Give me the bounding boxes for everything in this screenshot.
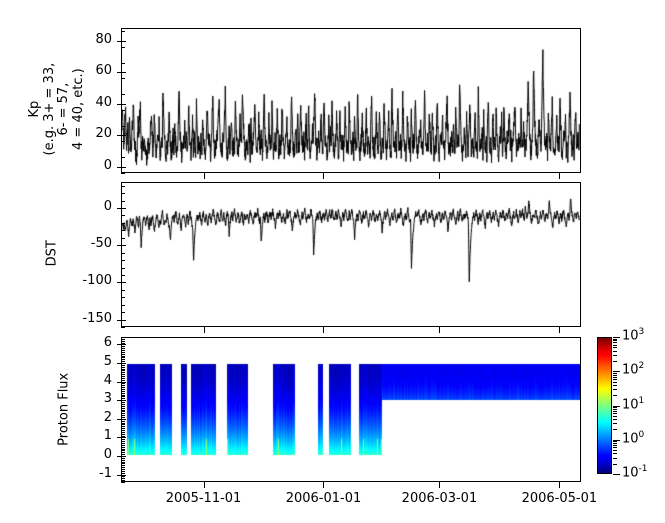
axis-tick-label: -100 (40, 273, 112, 288)
colorbar-minor-tick (613, 345, 617, 346)
axis-minor-tick (121, 275, 125, 276)
colorbar-tick-label: 10-1 (622, 464, 648, 480)
axis-minor-tick (121, 359, 125, 360)
axis-minor-tick (121, 463, 125, 464)
axis-minor-tick (121, 31, 125, 32)
colorbar-minor-tick (613, 409, 617, 410)
axis-major-tick (117, 41, 126, 42)
axis-minor-tick (121, 410, 125, 411)
x-axis-tick (439, 173, 440, 179)
axis-minor-tick (121, 424, 125, 425)
axis-minor-tick (121, 312, 125, 313)
axis-minor-tick (121, 370, 125, 371)
colorbar-gradient (598, 338, 611, 473)
axis-minor-tick (121, 201, 125, 202)
axis-minor-tick (121, 413, 125, 414)
colorbar-major-tick (613, 406, 620, 407)
axis-minor-tick (121, 367, 125, 368)
axis-minor-tick (121, 346, 125, 347)
axis-minor-tick (121, 356, 125, 357)
axis-minor-tick (121, 327, 125, 328)
colorbar-minor-tick (613, 407, 617, 408)
axis-tick-label: 0 (40, 199, 112, 214)
axis-major-tick (117, 437, 126, 438)
axis-minor-tick (121, 432, 125, 433)
axis-minor-tick (121, 352, 125, 353)
axis-minor-tick (121, 417, 125, 418)
axis-tick-label: 5 (40, 354, 112, 369)
axis-minor-tick (121, 415, 125, 416)
axis-minor-tick (121, 430, 125, 431)
colorbar-minor-tick (613, 464, 617, 465)
axis-minor-tick (121, 421, 125, 422)
axis-minor-tick (121, 441, 125, 442)
axis-minor-tick (121, 305, 125, 306)
axis-minor-tick (121, 372, 125, 373)
colorbar-tick-label: 100 (622, 430, 644, 446)
axis-minor-tick (121, 411, 125, 412)
colorbar-minor-tick (613, 361, 617, 362)
axis-minor-tick (121, 215, 125, 216)
axis-minor-tick (121, 365, 125, 366)
axis-minor-tick (121, 389, 125, 390)
axis-major-tick (117, 135, 126, 136)
axis-minor-tick (121, 462, 125, 463)
axis-minor-tick (121, 297, 125, 298)
axis-minor-tick (121, 238, 125, 239)
axis-major-tick (117, 167, 126, 168)
axis-minor-tick (121, 478, 125, 479)
axis-minor-tick (121, 339, 125, 340)
axis-minor-tick (121, 395, 125, 396)
colorbar-exponent: 2 (639, 361, 645, 371)
axis-major-tick (117, 363, 126, 364)
axis-minor-tick (121, 447, 125, 448)
panel-proton-flux (121, 337, 581, 482)
axis-minor-tick (121, 450, 125, 451)
axis-minor-tick (121, 458, 125, 459)
axis-minor-tick (121, 369, 125, 370)
colorbar-minor-tick (613, 423, 617, 424)
proton-flux-spectrogram (122, 338, 580, 481)
colorbar-minor-tick (613, 447, 617, 448)
axis-minor-tick (121, 408, 125, 409)
colorbar-minor-tick (613, 339, 617, 340)
axis-tick-label: -50 (40, 236, 112, 251)
axis-minor-tick (121, 426, 125, 427)
colorbar-major-tick (613, 371, 620, 372)
axis-minor-tick (121, 443, 125, 444)
x-axis-tick-label: 2005-11-01 (149, 491, 259, 506)
x-axis-tick (204, 173, 205, 179)
x-axis-tick (439, 482, 440, 488)
figure-root: Kp(e.g. 3+ = 33,6- = 57,4 = 40, etc.) 02… (0, 0, 665, 523)
axis-minor-tick (121, 223, 125, 224)
axis-minor-tick (121, 434, 125, 435)
colorbar-minor-tick (613, 385, 617, 386)
axis-major-tick (117, 456, 126, 457)
axis-minor-tick (121, 469, 125, 470)
colorbar-minor-tick (613, 382, 617, 383)
axis-minor-tick (121, 449, 125, 450)
colorbar-minor-tick (613, 340, 617, 341)
x-axis-tick (204, 482, 205, 488)
colorbar-mantissa: 10 (622, 397, 639, 412)
colorbar-minor-tick (613, 429, 617, 430)
colorbar-minor-tick (613, 453, 617, 454)
axis-minor-tick (121, 380, 125, 381)
axis-minor-tick (121, 428, 125, 429)
axis-minor-tick (121, 467, 125, 468)
colorbar-exponent: 0 (639, 430, 645, 440)
axis-minor-tick (121, 396, 125, 397)
colorbar-tick-label: 101 (622, 396, 644, 412)
axis-minor-tick (121, 402, 125, 403)
x-axis-tick (559, 327, 560, 333)
axis-minor-tick (121, 230, 125, 231)
kp-timeseries-plot (122, 29, 580, 172)
axis-major-tick (117, 72, 126, 73)
axis-tick-label: 3 (40, 391, 112, 406)
colorbar-minor-tick (613, 411, 617, 412)
axis-minor-tick (121, 423, 125, 424)
colorbar-minor-tick (613, 375, 617, 376)
axis-minor-tick (121, 404, 125, 405)
axis-major-tick (117, 320, 126, 321)
axis-minor-tick (121, 471, 125, 472)
axis-tick-label: 4 (40, 373, 112, 388)
axis-minor-tick (121, 393, 125, 394)
colorbar-minor-tick (613, 347, 617, 348)
colorbar-exponent: 3 (639, 327, 645, 337)
axis-minor-tick (121, 63, 125, 64)
colorbar-minor-tick (613, 458, 617, 459)
axis-minor-tick (121, 376, 125, 377)
axis-tick-label: -150 (40, 311, 112, 326)
axis-minor-tick (121, 94, 125, 95)
colorbar-minor-tick (613, 377, 617, 378)
colorbar-minor-tick (613, 379, 617, 380)
x-axis-tick-label: 2006-01-01 (268, 491, 378, 506)
axis-minor-tick (121, 341, 125, 342)
colorbar-minor-tick (613, 441, 617, 442)
axis-minor-tick (121, 391, 125, 392)
axis-major-tick (117, 104, 126, 105)
axis-tick-label: 0 (40, 158, 112, 173)
axis-minor-tick (121, 173, 125, 174)
colorbar-mantissa: 10 (622, 328, 639, 343)
panel-dst (121, 182, 581, 327)
colorbar-mantissa: 10 (622, 363, 639, 378)
axis-minor-tick (121, 383, 125, 384)
axis-minor-tick (121, 460, 125, 461)
axis-minor-tick (121, 157, 125, 158)
x-axis-tick-label: 2006-03-01 (384, 491, 494, 506)
axis-minor-tick (121, 476, 125, 477)
colorbar-exponent: -1 (639, 464, 648, 474)
colorbar-major-tick (613, 337, 620, 338)
colorbar-major-tick (613, 440, 620, 441)
axis-minor-tick (121, 406, 125, 407)
axis-major-tick (117, 475, 126, 476)
colorbar-minor-tick (613, 373, 617, 374)
axis-minor-tick (121, 465, 125, 466)
axis-minor-tick (121, 454, 125, 455)
axis-minor-tick (121, 473, 125, 474)
axis-major-tick (117, 208, 126, 209)
axis-minor-tick (121, 452, 125, 453)
colorbar-minor-tick (613, 445, 617, 446)
x-axis-tick (559, 482, 560, 488)
colorbar-minor-tick (613, 443, 617, 444)
x-axis-tick (323, 173, 324, 179)
axis-tick-label: 20 (40, 126, 112, 141)
colorbar-minor-tick (613, 355, 617, 356)
axis-minor-tick (121, 78, 125, 79)
axis-minor-tick (121, 387, 125, 388)
axis-minor-tick (121, 47, 125, 48)
axis-minor-tick (121, 126, 125, 127)
x-axis-tick (204, 327, 205, 333)
colorbar-mantissa: 10 (622, 431, 639, 446)
colorbar-minor-tick (613, 416, 617, 417)
axis-tick-label: 80 (40, 32, 112, 47)
colorbar-minor-tick (613, 419, 617, 420)
axis-major-tick (117, 382, 126, 383)
axis-minor-tick (121, 354, 125, 355)
axis-tick-label: 6 (40, 335, 112, 350)
colorbar-exponent: 1 (639, 396, 645, 406)
axis-minor-tick (121, 290, 125, 291)
colorbar-minor-tick (613, 450, 617, 451)
axis-minor-tick (121, 385, 125, 386)
x-axis-tick (439, 327, 440, 333)
axis-tick-label: 40 (40, 95, 112, 110)
axis-major-tick (117, 245, 126, 246)
axis-minor-tick (121, 361, 125, 362)
colorbar-tick-label: 102 (622, 361, 644, 377)
axis-tick-label: 2 (40, 410, 112, 425)
colorbar-minor-tick (613, 389, 617, 390)
axis-major-tick (117, 344, 126, 345)
axis-minor-tick (121, 445, 125, 446)
axis-minor-tick (121, 268, 125, 269)
x-axis-tick (559, 173, 560, 179)
axis-major-tick (117, 400, 126, 401)
x-axis-tick (323, 482, 324, 488)
axis-minor-tick (121, 439, 125, 440)
colorbar-major-tick (613, 474, 620, 475)
colorbar-minor-tick (613, 413, 617, 414)
dst-timeseries-plot (122, 183, 580, 326)
colorbar-minor-tick (613, 395, 617, 396)
x-axis-tick-label: 2006-05-01 (504, 491, 614, 506)
axis-minor-tick (121, 260, 125, 261)
axis-minor-tick (121, 253, 125, 254)
axis-minor-tick (121, 378, 125, 379)
colorbar-minor-tick (613, 351, 617, 352)
axis-tick-label: -1 (40, 466, 112, 481)
panel-kp (121, 28, 581, 173)
axis-minor-tick (121, 480, 125, 481)
axis-tick-label: 60 (40, 63, 112, 78)
colorbar-minor-tick (613, 342, 617, 343)
colorbar-tick-label: 103 (622, 327, 644, 343)
axis-minor-tick (121, 350, 125, 351)
axis-major-tick (117, 282, 126, 283)
axis-minor-tick (121, 348, 125, 349)
colorbar (597, 337, 612, 474)
axis-tick-label: 1 (40, 428, 112, 443)
axis-minor-tick (121, 141, 125, 142)
axis-tick-label: 0 (40, 447, 112, 462)
x-axis-tick (323, 327, 324, 333)
axis-minor-tick (121, 357, 125, 358)
colorbar-mantissa: 10 (622, 465, 639, 480)
axis-minor-tick (121, 374, 125, 375)
axis-minor-tick (121, 186, 125, 187)
axis-minor-tick (121, 193, 125, 194)
axis-major-tick (117, 419, 126, 420)
axis-minor-tick (121, 110, 125, 111)
axis-minor-tick (121, 398, 125, 399)
axis-minor-tick (121, 337, 125, 338)
axis-minor-tick (121, 482, 125, 483)
